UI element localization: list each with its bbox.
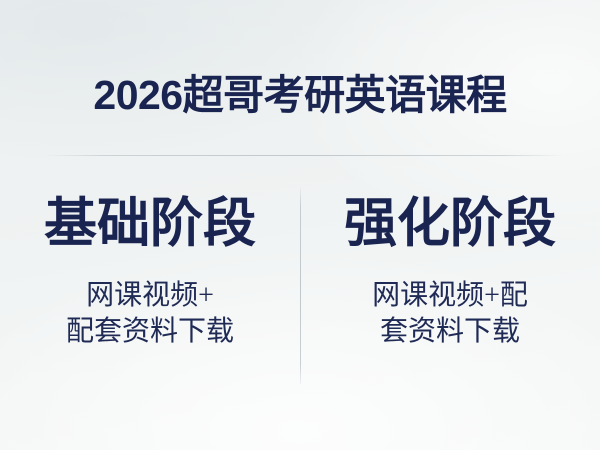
stage-desc-line-1: 网课视频+	[0, 278, 300, 314]
stage-desc-line-2: 配套资料下载	[0, 314, 300, 350]
stage-desc-line-1: 网课视频+配	[300, 278, 600, 314]
course-promo-poster: 2026超哥考研英语课程 基础阶段 网课视频+ 配套资料下载 强化阶段 网课视频…	[0, 0, 600, 450]
stage-column-foundation: 基础阶段 网课视频+ 配套资料下载	[0, 190, 300, 350]
stage-column-intensive: 强化阶段 网课视频+配 套资料下载	[300, 190, 600, 350]
stage-desc-foundation: 网课视频+ 配套资料下载	[0, 278, 300, 350]
title-container: 2026超哥考研英语课程	[0, 70, 600, 120]
stage-columns: 基础阶段 网课视频+ 配套资料下载 强化阶段 网课视频+配 套资料下载	[0, 190, 600, 350]
stage-heading-foundation: 基础阶段	[0, 190, 300, 258]
stage-heading-intensive: 强化阶段	[300, 190, 600, 258]
stage-desc-line-2: 套资料下载	[300, 314, 600, 350]
page-title: 2026超哥考研英语课程	[93, 70, 506, 120]
stage-desc-intensive: 网课视频+配 套资料下载	[300, 278, 600, 350]
horizontal-divider	[44, 155, 564, 156]
